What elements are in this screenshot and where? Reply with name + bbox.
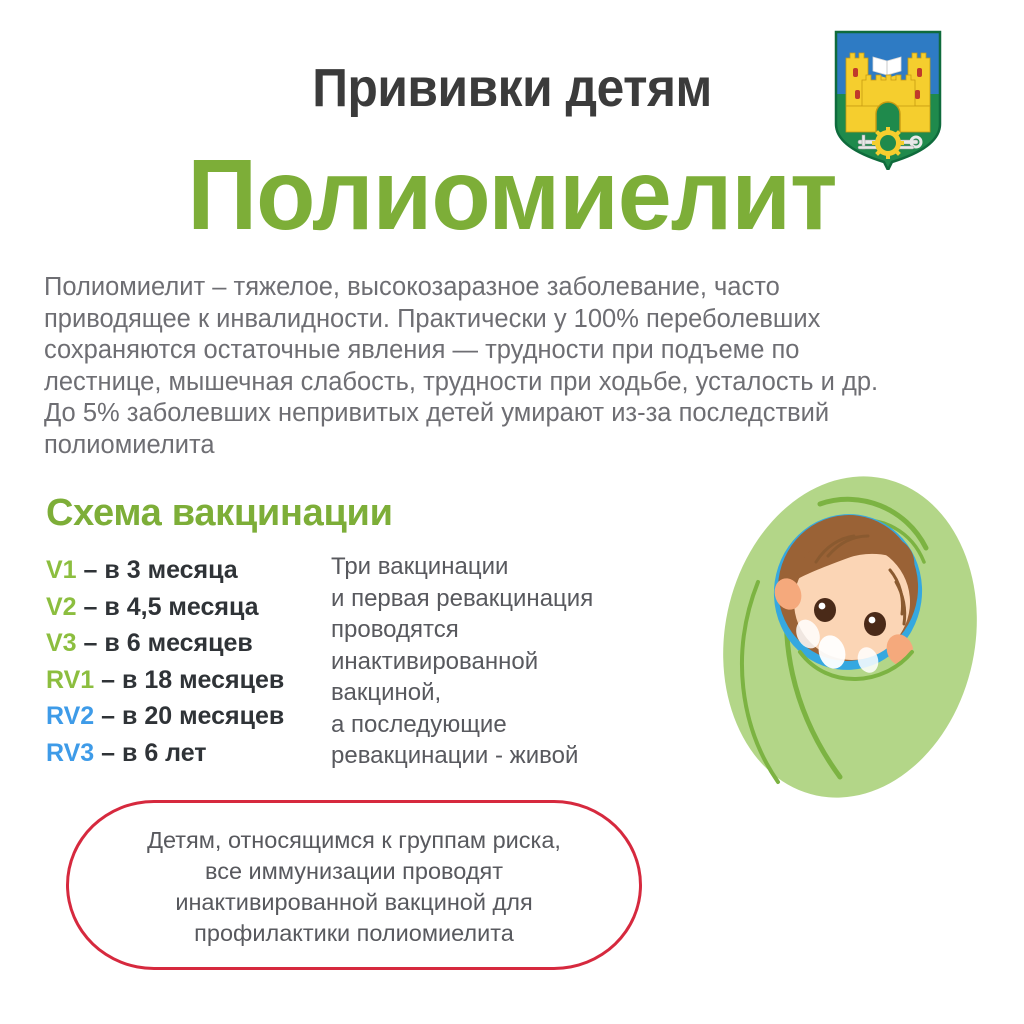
note-line: проводятся xyxy=(331,614,671,646)
schedule-dash: – xyxy=(84,593,98,621)
schedule-item: V2 – в 4,5 месяца xyxy=(46,589,346,626)
swaddled-baby-illustration xyxy=(700,462,1000,807)
intro-line: приводящее к инвалидности. Практически у… xyxy=(44,304,980,336)
intro-line: полиомиелита xyxy=(44,430,980,462)
schedule-item: RV2 – в 20 месяцев xyxy=(46,698,346,735)
schedule-dash: – xyxy=(101,702,115,730)
schedule-code: RV2 xyxy=(46,702,94,730)
schedule-item: RV1 – в 18 месяцев xyxy=(46,662,346,699)
note-line: вакциной, xyxy=(331,677,671,709)
schedule-code: V2 xyxy=(46,593,77,621)
vaccination-schedule-list: V1 – в 3 месяца V2 – в 4,5 месяца V3 – в… xyxy=(46,552,346,771)
schedule-heading: Схема вакцинации xyxy=(46,492,393,535)
schedule-code: RV3 xyxy=(46,739,94,767)
schedule-dash: – xyxy=(101,739,115,767)
intro-line: Полиомиелит – тяжелое, высокозаразное за… xyxy=(44,272,980,304)
highlight-note-line: профилактики полиомиелита xyxy=(92,918,616,949)
note-line: инактивированной xyxy=(331,646,671,678)
schedule-age: в 3 месяца xyxy=(104,556,237,584)
intro-line: До 5% заболевших непривитых детей умираю… xyxy=(44,398,980,430)
intro-line: сохраняются остаточные явления — труднос… xyxy=(44,335,980,367)
schedule-code: V1 xyxy=(46,556,77,584)
disease-name-title: Полиомиелит xyxy=(15,145,1008,245)
schedule-dash: – xyxy=(101,666,115,694)
highlight-note-line: инактивированной вакциной для xyxy=(92,887,616,918)
highlight-note-line: Детям, относящимся к группам риска, xyxy=(92,825,616,856)
risk-group-highlight-note: Детям, относящимся к группам риска, все … xyxy=(66,800,642,970)
intro-paragraph: Полиомиелит – тяжелое, высокозаразное за… xyxy=(44,272,980,461)
schedule-code: RV1 xyxy=(46,666,94,694)
schedule-item: V3 – в 6 месяцев xyxy=(46,625,346,662)
schedule-age: в 4,5 месяца xyxy=(104,593,258,621)
schedule-age: в 6 лет xyxy=(122,739,207,767)
poster-canvas: Прививки детям xyxy=(0,0,1024,1024)
highlight-note-line: все иммунизации проводят xyxy=(92,856,616,887)
schedule-item: V1 – в 3 месяца xyxy=(46,552,346,589)
note-line: а последующие xyxy=(331,709,671,741)
vaccine-type-note: Три вакцинации и первая ревакцинация про… xyxy=(331,551,671,772)
intro-line: лестнице, мышечная слабость, трудности п… xyxy=(44,367,980,399)
note-line: ревакцинации - живой xyxy=(331,740,671,772)
schedule-age: в 6 месяцев xyxy=(104,629,252,657)
schedule-code: V3 xyxy=(46,629,77,657)
schedule-age: в 20 месяцев xyxy=(122,702,284,730)
note-line: и первая ревакцинация xyxy=(331,583,671,615)
schedule-item: RV3 – в 6 лет xyxy=(46,735,346,772)
schedule-dash: – xyxy=(84,556,98,584)
schedule-age: в 18 месяцев xyxy=(122,666,284,694)
schedule-dash: – xyxy=(84,629,98,657)
highlight-note-text: Детям, относящимся к группам риска, все … xyxy=(92,825,616,949)
note-line: Три вакцинации xyxy=(331,551,671,583)
